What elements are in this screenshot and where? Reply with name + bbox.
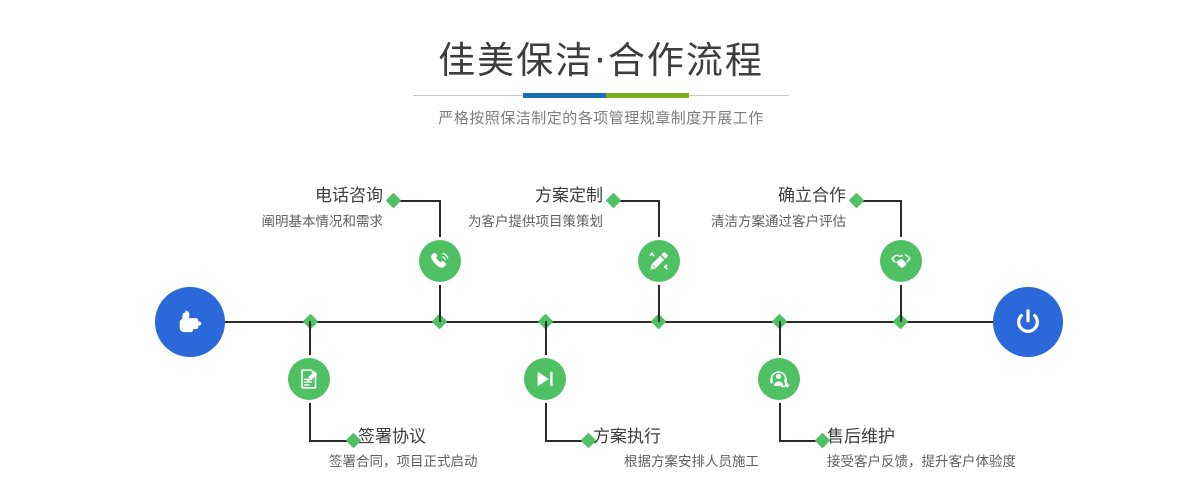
- step-label-desc-below-2: 接受客户反馈，提升客户体验度: [827, 453, 1117, 471]
- page-subtitle: 严格按照保洁制定的各项管理规章制度开展工作: [0, 107, 1202, 128]
- step-node-plan-design[interactable]: [638, 240, 680, 282]
- end-endpoint[interactable]: [993, 287, 1063, 357]
- step-label-desc-above-0: 阐明基本情况和需求: [153, 213, 383, 231]
- step-node-phone-consult[interactable]: [419, 240, 461, 282]
- connector-end-diamond: [606, 193, 622, 209]
- step-node-sign-agreement[interactable]: [288, 358, 330, 400]
- step-label-desc-above-1: 为客户提供项目策策划: [373, 213, 603, 231]
- document-pen-icon: [297, 367, 321, 391]
- title-divider: [413, 93, 789, 99]
- step-node-aftersales[interactable]: [758, 358, 800, 400]
- play-next-icon: [533, 367, 557, 391]
- pointing-hand-icon: [170, 302, 210, 342]
- divider-green-segment: [606, 93, 689, 98]
- power-icon: [1008, 302, 1048, 342]
- page-title: 佳美保洁·合作流程: [0, 38, 1202, 84]
- step-label-desc-above-2: 清洁方案通过客户评估: [606, 213, 846, 231]
- step-label-title-below-2: 售后维护: [827, 427, 1067, 447]
- step-label-title-above-2: 确立合作: [666, 186, 846, 206]
- step-label-title-above-1: 方案定制: [423, 186, 603, 206]
- connector-end-diamond: [386, 193, 402, 209]
- step-label-title-below-0: 签署协议: [358, 427, 578, 447]
- connector-end-diamond: [849, 193, 865, 209]
- step-node-establish-coop[interactable]: [880, 240, 922, 282]
- pen-ruler-icon: [647, 249, 671, 273]
- step-label-title-above-0: 电话咨询: [203, 186, 383, 206]
- divider-blue-segment: [523, 93, 606, 98]
- handshake-icon: [889, 249, 913, 273]
- start-endpoint[interactable]: [155, 287, 225, 357]
- headset-add-icon: [767, 367, 791, 391]
- step-label-title-below-1: 方案执行: [593, 427, 813, 447]
- step-label-desc-below-0: 签署合同，项目正式启动: [329, 453, 589, 471]
- step-node-plan-execute[interactable]: [524, 358, 566, 400]
- phone-call-icon: [428, 249, 452, 273]
- flowchart-canvas: 佳美保洁·合作流程 严格按照保洁制定的各项管理规章制度开展工作: [0, 0, 1202, 502]
